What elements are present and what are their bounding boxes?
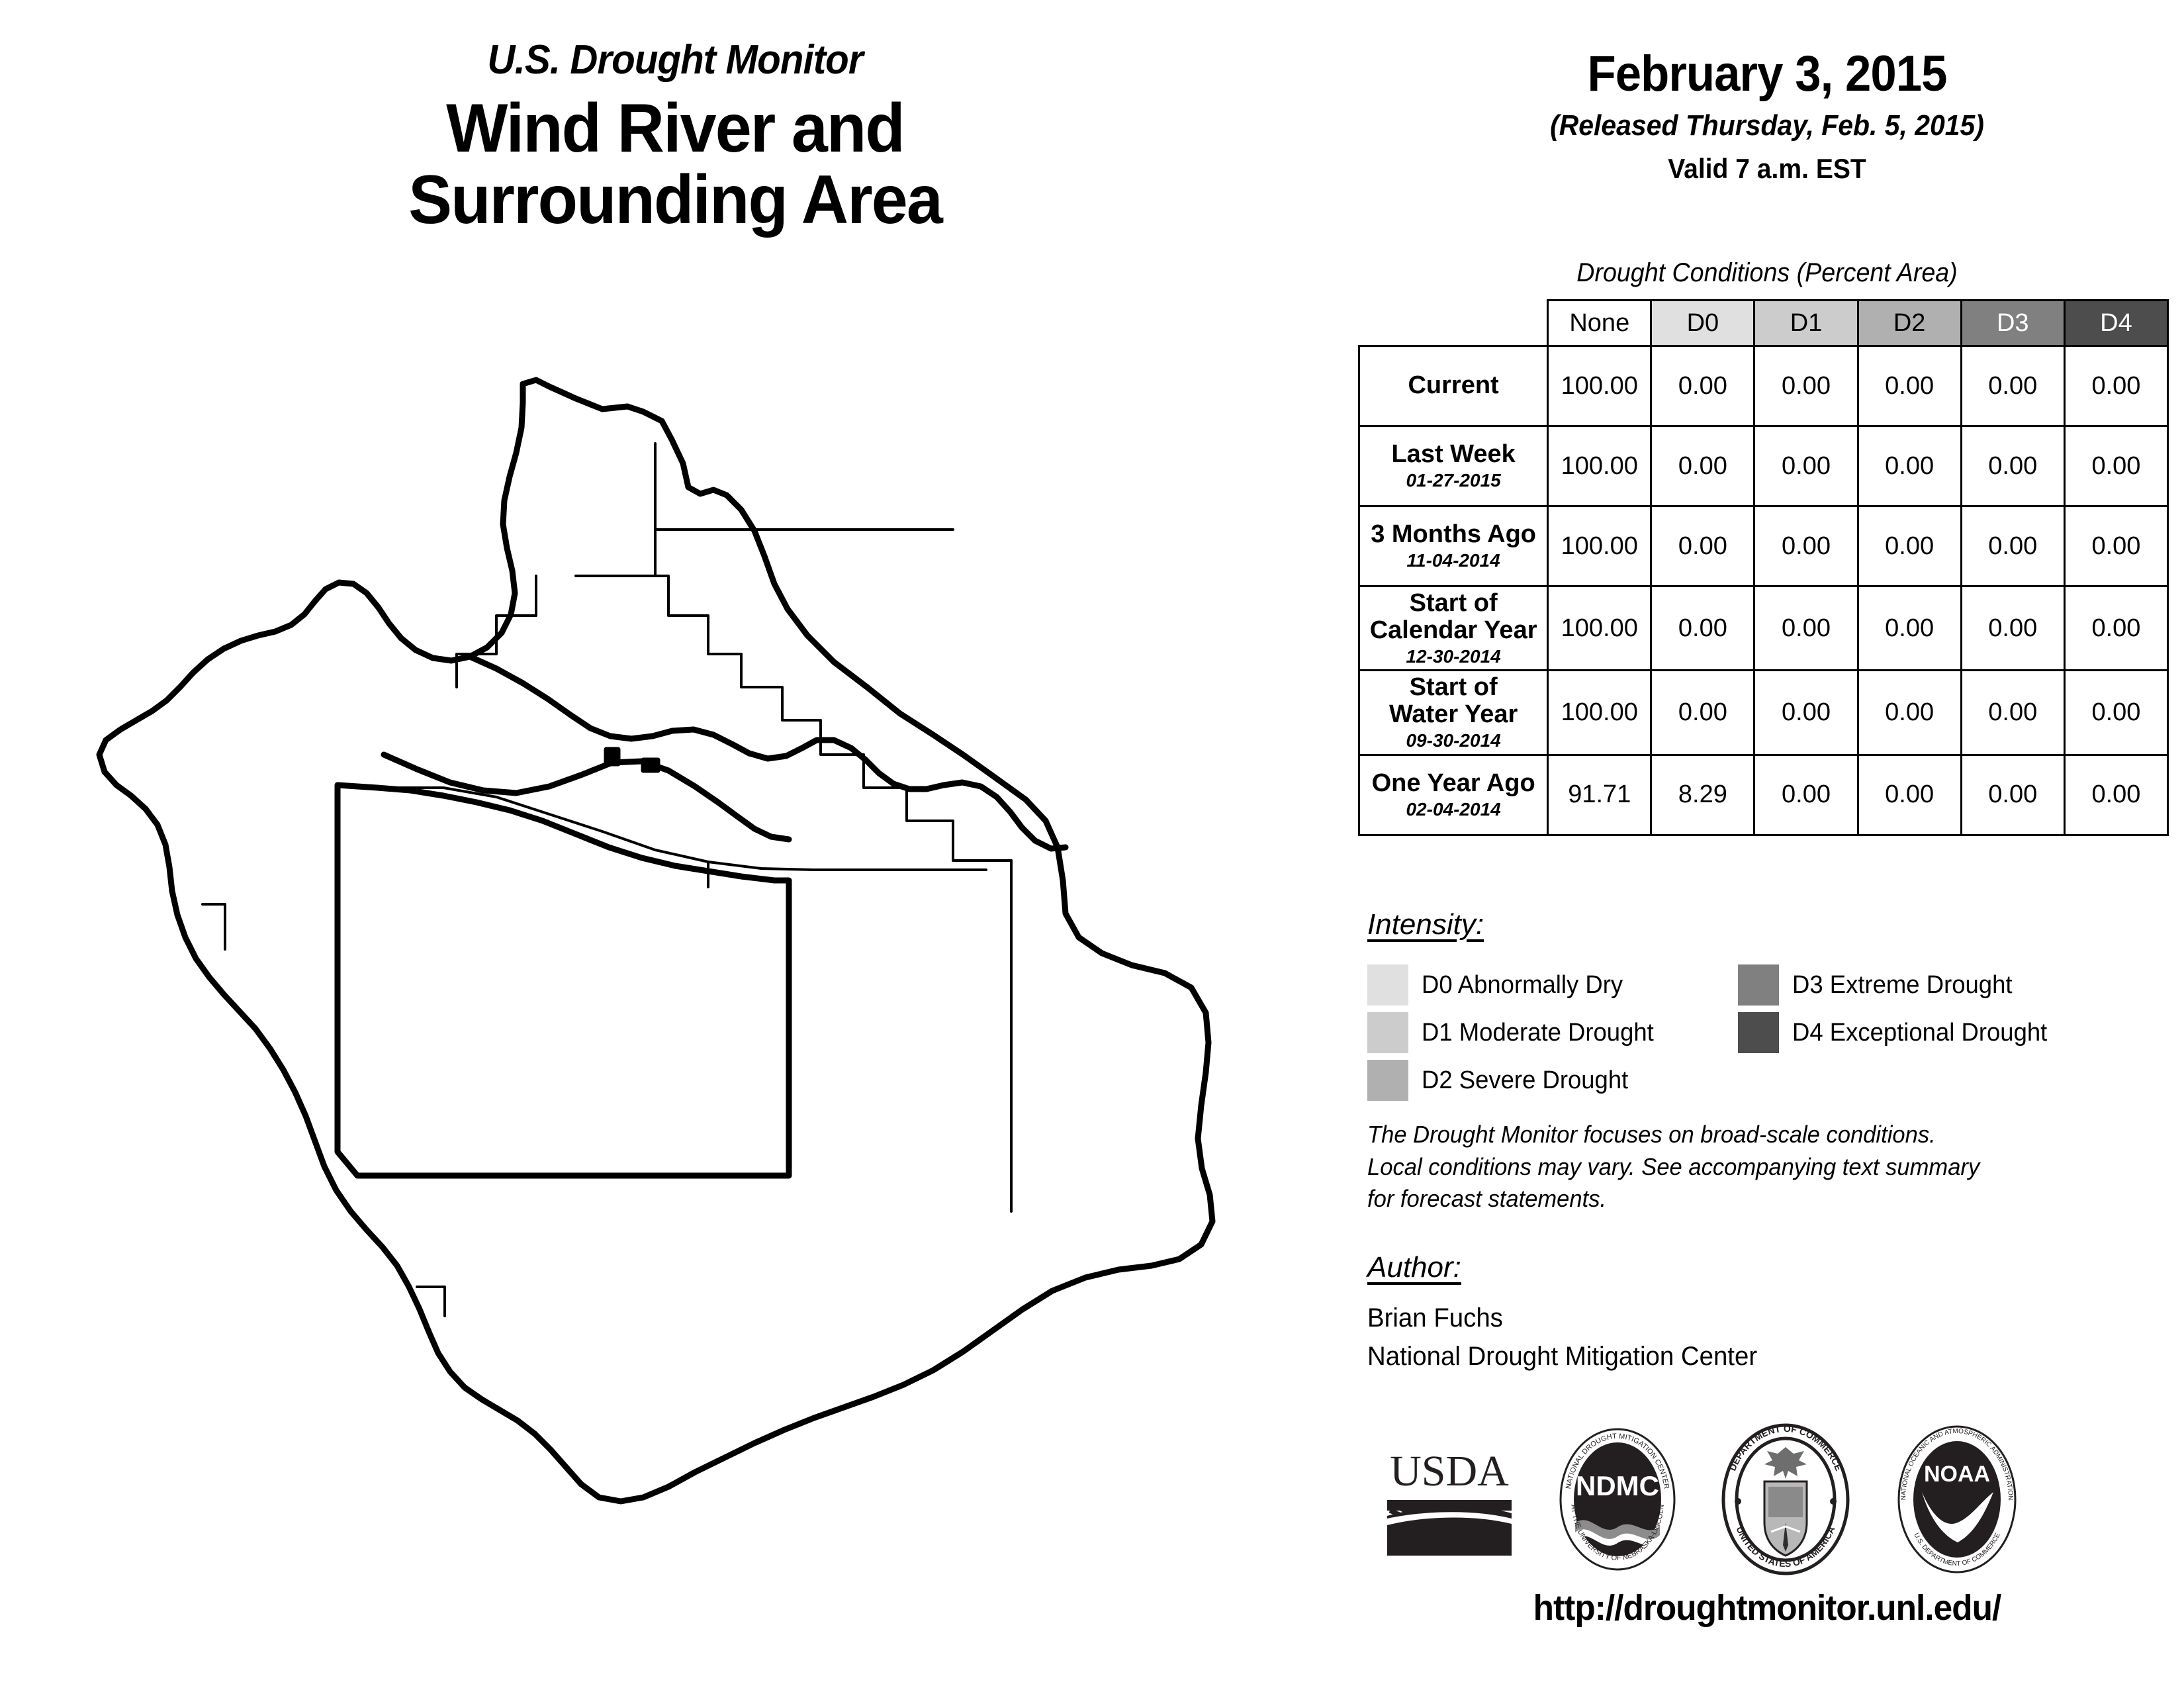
- cell-current-d0: 0.00: [1651, 346, 1754, 426]
- row-label-line2: Water Year: [1389, 700, 1518, 728]
- legend-label-d1: D1 Moderate Drought: [1422, 1019, 1654, 1047]
- issue-date: February 3, 2015: [1379, 48, 2155, 101]
- table-row: Start of Water Year 09-30-2014 100.00 0.…: [1359, 671, 2168, 755]
- cell-wy-none: 100.00: [1548, 671, 1651, 755]
- legend-label-d2: D2 Severe Drought: [1422, 1066, 1628, 1095]
- region-title-line1: Wind River and: [34, 93, 1316, 164]
- legend-label-d3: D3 Extreme Drought: [1792, 971, 2013, 1000]
- disclaimer-line3: for forecast statements.: [1367, 1183, 2079, 1215]
- legend-item-d4: D4 Exceptional Drought: [1738, 1012, 2175, 1053]
- column-header-d3: D3: [1961, 301, 2064, 346]
- table-corner-cell: [1359, 301, 1548, 346]
- cell-lastweek-d0: 0.00: [1651, 426, 1754, 506]
- valid-time: Valid 7 a.m. EST: [1379, 154, 2155, 184]
- map-svg: [73, 357, 1297, 1542]
- page-title: Wind River and Surrounding Area: [34, 93, 1316, 236]
- logo-row: USDA NDMC NATIONAL DROUGHT MITIGATION CE…: [1383, 1423, 2164, 1575]
- column-header-d1: D1: [1754, 301, 1858, 346]
- cell-wy-d2: 0.00: [1858, 671, 1961, 755]
- disclaimer-line2: Local conditions may vary. See accompany…: [1367, 1151, 2079, 1184]
- doc-ship: [1768, 1487, 1803, 1517]
- cell-current-d1: 0.00: [1754, 346, 1858, 426]
- row-label-text: 3 Months Ago: [1371, 520, 1536, 548]
- info-panel: February 3, 2015 (Released Thursday, Feb…: [1350, 0, 2184, 1688]
- row-label-start-of-water-year: Start of Water Year 09-30-2014: [1359, 671, 1548, 755]
- cell-lastweek-d4: 0.00: [2064, 426, 2167, 506]
- ndmc-wordmark: NDMC: [1576, 1470, 1659, 1501]
- cell-3mo-d0: 0.00: [1651, 506, 1754, 586]
- cell-wy-d1: 0.00: [1754, 671, 1858, 755]
- row-label-date: 12-30-2014: [1364, 647, 1543, 667]
- usda-logo: USDA: [1383, 1436, 1516, 1562]
- drought-conditions-table: None D0 D1 D2 D3 D4 Current 100.00 0.00 …: [1358, 299, 2169, 836]
- cell-cy-d1: 0.00: [1754, 586, 1858, 671]
- cell-3mo-d1: 0.00: [1754, 506, 1858, 586]
- row-label-last-week: Last Week 01-27-2015: [1359, 426, 1548, 506]
- department-of-commerce-seal: DEPARTMENT OF COMMERCE UNITED STATES OF …: [1719, 1423, 1852, 1575]
- legend-label-d4: D4 Exceptional Drought: [1792, 1019, 2047, 1047]
- legend-item-d1: D1 Moderate Drought: [1367, 1012, 1738, 1053]
- column-header-d0: D0: [1651, 301, 1754, 346]
- legend-swatch-d4-icon: [1738, 1012, 1779, 1053]
- usda-wordmark: USDA: [1390, 1447, 1509, 1495]
- table-row: Current 100.00 0.00 0.00 0.00 0.00 0.00: [1359, 346, 2168, 426]
- row-label-current: Current: [1359, 346, 1548, 426]
- legend-swatch-d0-icon: [1367, 964, 1408, 1006]
- cell-lastweek-d3: 0.00: [1961, 426, 2064, 506]
- legend-item-d3: D3 Extreme Drought: [1738, 964, 2175, 1006]
- legend-swatch-d3-icon: [1738, 964, 1779, 1006]
- doc-star-right: [1830, 1498, 1837, 1505]
- column-header-d4: D4: [2064, 301, 2167, 346]
- table-row: 3 Months Ago 11-04-2014 100.00 0.00 0.00…: [1359, 506, 2168, 586]
- cell-cy-d0: 0.00: [1651, 586, 1754, 671]
- cell-wy-d4: 0.00: [2064, 671, 2167, 755]
- row-label-line2: Calendar Year: [1370, 616, 1537, 644]
- legend-item-d2: D2 Severe Drought: [1367, 1060, 1738, 1101]
- table-row: Last Week 01-27-2015 100.00 0.00 0.00 0.…: [1359, 426, 2168, 506]
- cell-current-d3: 0.00: [1961, 346, 2064, 426]
- cell-current-none: 100.00: [1548, 346, 1651, 426]
- row-label-text: Last Week: [1391, 440, 1515, 468]
- row-label-start-of-calendar-year: Start of Calendar Year 12-30-2014: [1359, 586, 1548, 671]
- row-label-line1: Start of: [1410, 673, 1498, 701]
- cell-wy-d0: 0.00: [1651, 671, 1754, 755]
- author-heading: Author:: [1367, 1251, 1461, 1284]
- cell-current-d2: 0.00: [1858, 346, 1961, 426]
- cell-lastweek-d2: 0.00: [1858, 426, 1961, 506]
- website-url[interactable]: http://droughtmonitor.unl.edu/: [1371, 1587, 2163, 1628]
- cell-1yr-none: 91.71: [1548, 755, 1651, 835]
- table-caption: Drought Conditions (Percent Area): [1375, 258, 2159, 288]
- title-block: U.S. Drought Monitor Wind River and Surr…: [0, 40, 1350, 236]
- row-label-date: 01-27-2015: [1364, 471, 1543, 491]
- cell-cy-d4: 0.00: [2064, 586, 2167, 671]
- legend-swatch-d2-icon: [1367, 1060, 1408, 1101]
- interior-marker-b: [643, 760, 658, 771]
- row-label-date: 09-30-2014: [1364, 731, 1543, 751]
- product-name: U.S. Drought Monitor: [40, 40, 1310, 81]
- disclaimer-line1: The Drought Monitor focuses on broad-sca…: [1367, 1119, 2079, 1151]
- release-note: (Released Thursday, Feb. 5, 2015): [1379, 110, 2155, 142]
- row-label-text: Current: [1408, 371, 1498, 399]
- cell-1yr-d2: 0.00: [1858, 755, 1961, 835]
- table-row: One Year Ago 02-04-2014 91.71 8.29 0.00 …: [1359, 755, 2168, 835]
- row-label-text: One Year Ago: [1372, 769, 1535, 797]
- cell-1yr-d4: 0.00: [2064, 755, 2167, 835]
- row-label-date: 02-04-2014: [1364, 800, 1543, 820]
- legend-grid: D0 Abnormally Dry D3 Extreme Drought D1 …: [1367, 961, 2181, 1104]
- row-label-3-months-ago: 3 Months Ago 11-04-2014: [1359, 506, 1548, 586]
- row-label-date: 11-04-2014: [1364, 551, 1543, 571]
- author-name: Brian Fuchs: [1367, 1299, 2066, 1337]
- row-label-line1: Start of: [1410, 589, 1498, 617]
- row-label-one-year-ago: One Year Ago 02-04-2014: [1359, 755, 1548, 835]
- region-title-line2: Surrounding Area: [34, 164, 1316, 236]
- cell-current-d4: 0.00: [2064, 346, 2167, 426]
- cell-wy-d3: 0.00: [1961, 671, 2064, 755]
- cell-3mo-none: 100.00: [1548, 506, 1651, 586]
- cell-1yr-d0: 8.29: [1651, 755, 1754, 835]
- noaa-logo: NOAA NATIONAL OCEANIC AND ATMOSPHERIC AD…: [1894, 1423, 2020, 1575]
- cell-lastweek-d1: 0.00: [1754, 426, 1858, 506]
- author-affiliation: National Drought Mitigation Center: [1367, 1337, 2066, 1376]
- cell-cy-none: 100.00: [1548, 586, 1651, 671]
- noaa-wordmark: NOAA: [1924, 1462, 1990, 1487]
- ndmc-logo: NDMC NATIONAL DROUGHT MITIGATION CENTER …: [1558, 1427, 1677, 1572]
- cell-lastweek-none: 100.00: [1548, 426, 1651, 506]
- cell-3mo-d3: 0.00: [1961, 506, 2064, 586]
- author-block: Author: Brian Fuchs National Drought Mit…: [1367, 1251, 2095, 1376]
- cell-cy-d3: 0.00: [1961, 586, 2064, 671]
- cell-cy-d2: 0.00: [1858, 586, 1961, 671]
- cell-1yr-d1: 0.00: [1754, 755, 1858, 835]
- column-header-d2: D2: [1858, 301, 1961, 346]
- column-header-none: None: [1548, 301, 1651, 346]
- cell-1yr-d3: 0.00: [1961, 755, 2064, 835]
- interior-marker-a: [606, 749, 618, 764]
- cell-3mo-d4: 0.00: [2064, 506, 2167, 586]
- legend-swatch-d1-icon: [1367, 1012, 1408, 1053]
- legend-label-d0: D0 Abnormally Dry: [1422, 971, 1623, 1000]
- intensity-heading: Intensity:: [1367, 908, 1484, 941]
- cell-3mo-d2: 0.00: [1858, 506, 1961, 586]
- table-header-row: None D0 D1 D2 D3 D4: [1359, 301, 2168, 346]
- date-block: February 3, 2015 (Released Thursday, Feb…: [1350, 48, 2184, 184]
- intensity-legend: Intensity: D0 Abnormally Dry D3 Extreme …: [1367, 908, 2181, 1104]
- disclaimer-text: The Drought Monitor focuses on broad-sca…: [1367, 1119, 2079, 1215]
- map-background: [73, 357, 1297, 1542]
- drought-map[interactable]: [73, 357, 1297, 1542]
- table-row: Start of Calendar Year 12-30-2014 100.00…: [1359, 586, 2168, 671]
- map-panel: U.S. Drought Monitor Wind River and Surr…: [0, 0, 1350, 1688]
- legend-item-d0: D0 Abnormally Dry: [1367, 964, 1738, 1006]
- doc-star-left: [1735, 1498, 1741, 1505]
